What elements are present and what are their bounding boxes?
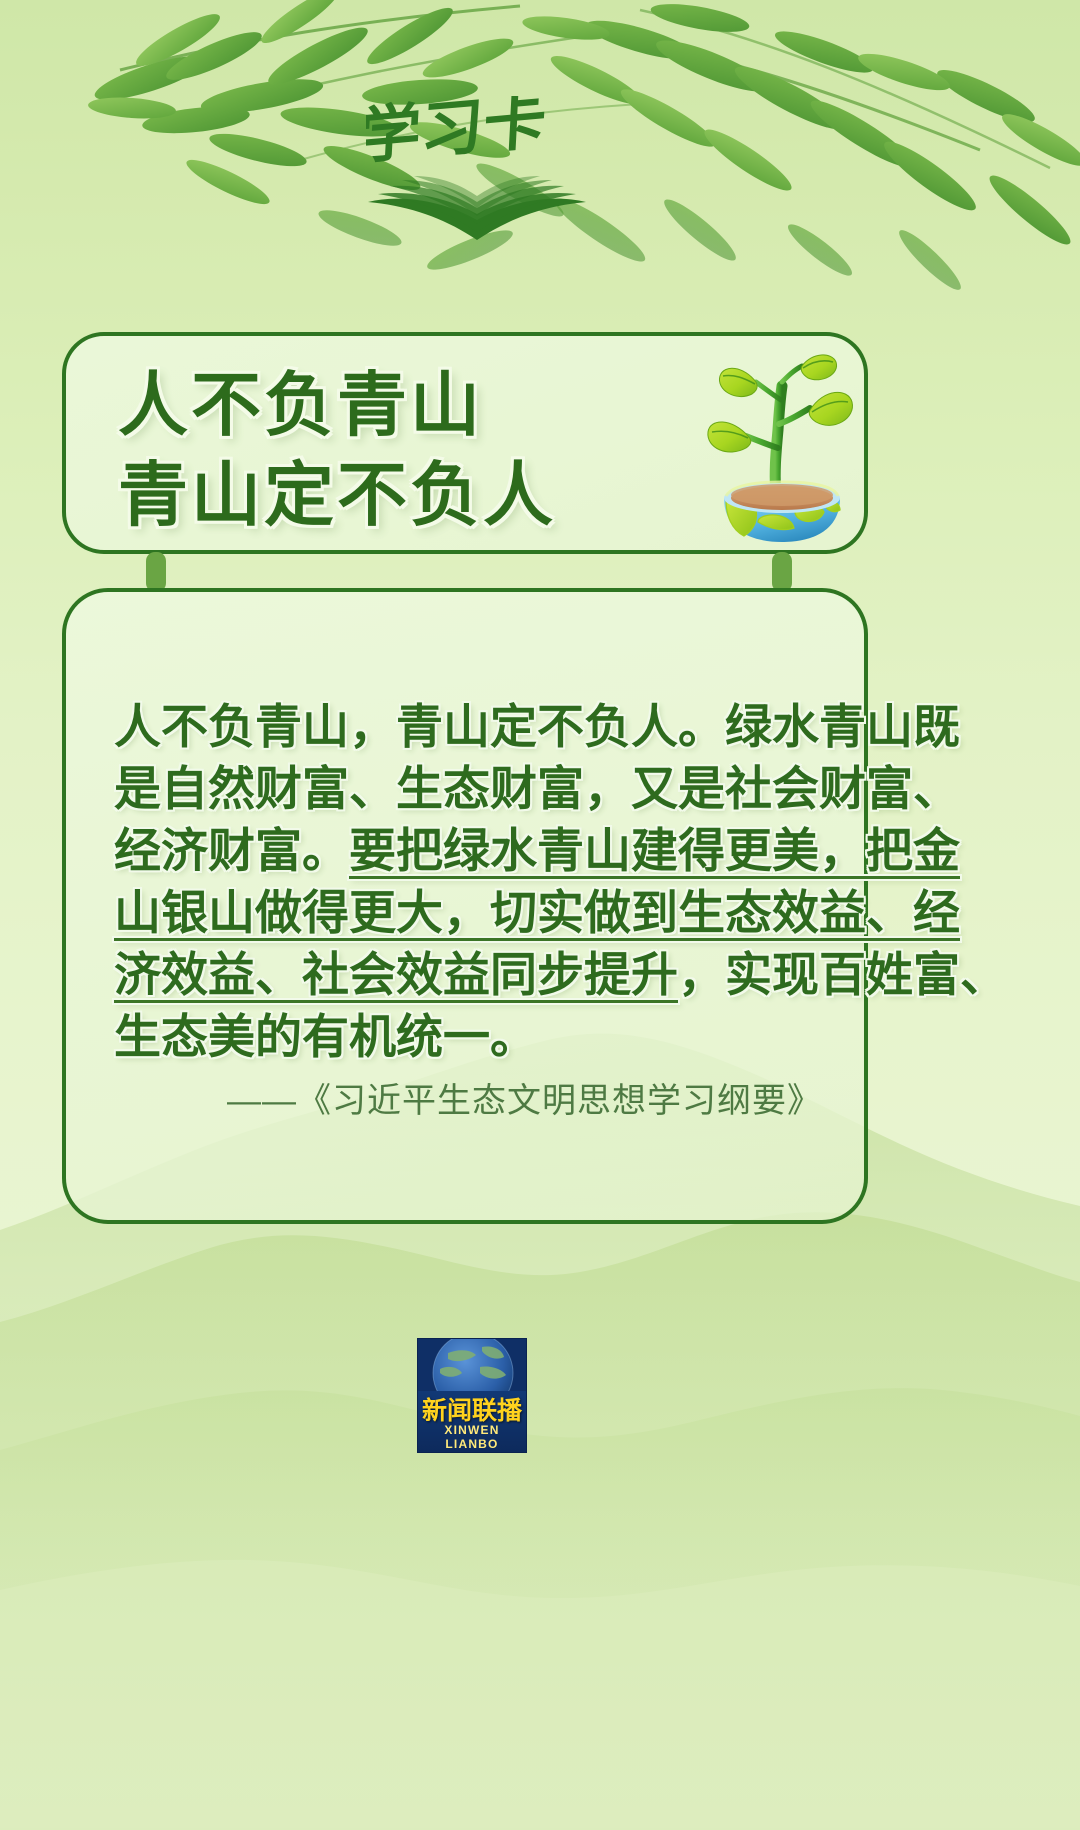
sapling-in-globe-bowl-icon	[706, 352, 858, 542]
quote-line-5: 济效益、社会效益同步提升，实现百姓富、	[114, 944, 830, 1006]
open-book-icon	[352, 158, 602, 246]
quote-line-4-underlined: 山银山做得更大，切实做到生态效益、经	[114, 886, 960, 939]
poster-canvas: 学习卡 人不负青山 青山定不负人	[0, 0, 1080, 1828]
card-connector-left	[146, 552, 166, 592]
quote-line-5-underlined: 济效益、社会效益同步提升	[114, 948, 678, 1001]
earth-globe-icon	[418, 1339, 527, 1391]
quote-attribution: ——《习近平生态文明思想学习纲要》	[66, 1073, 822, 1122]
title-line-2: 青山定不负人	[118, 456, 556, 534]
brand-logo: 学习卡	[352, 96, 602, 246]
quote-line-3: 经济财富。要把绿水青山建得更美，把金	[114, 820, 830, 882]
title-line-1: 人不负青山	[118, 366, 556, 444]
card-connector-right	[772, 552, 792, 592]
quote-line-4: 山银山做得更大，切实做到生态效益、经	[114, 882, 830, 944]
quote-line-6: 生态美的有机统一。	[114, 1006, 830, 1068]
xinwen-lianbo-logo: 新闻联播 XINWEN LIANBO	[417, 1338, 527, 1453]
quote-line-5-plain: ，实现百姓富、	[678, 948, 1007, 1001]
xinwen-lianbo-label-en: XINWEN LIANBO	[418, 1423, 526, 1451]
quote-line-2: 是自然财富、生态财富，又是社会财富、	[114, 758, 830, 820]
quote-line-3-underlined: 要把绿水青山建得更美，把金	[349, 824, 960, 877]
quote-text: 人不负青山，青山定不负人。绿水青山既 是自然财富、生态财富，又是社会财富、 经济…	[114, 696, 830, 1068]
quote-line-3-plain: 经济财富。	[114, 824, 349, 877]
xinwen-lianbo-label-cn: 新闻联播	[418, 1391, 526, 1427]
title-lines: 人不负青山 青山定不负人	[118, 366, 556, 535]
quote-line-1: 人不负青山，青山定不负人。绿水青山既	[114, 696, 830, 758]
quote-card: 人不负青山，青山定不负人。绿水青山既 是自然财富、生态财富，又是社会财富、 经济…	[62, 588, 868, 1224]
